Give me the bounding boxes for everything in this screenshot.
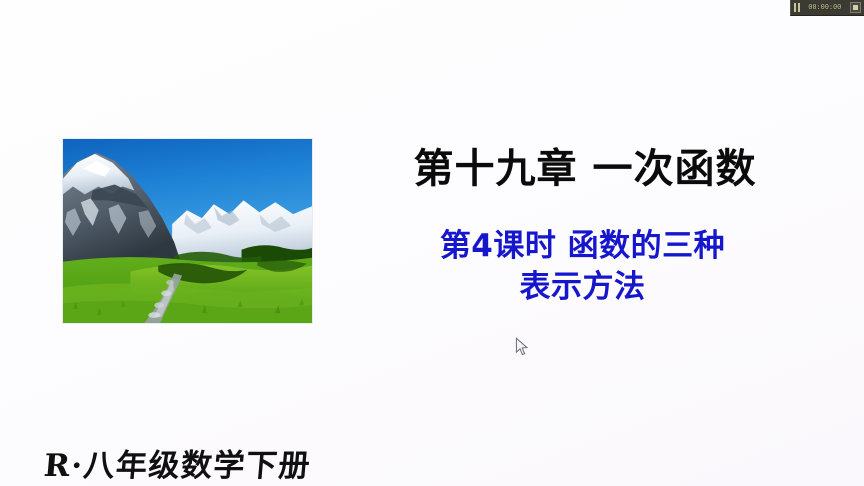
presentation-slide: 00:00:00 (0, 0, 864, 486)
recording-elapsed-time: 00:00:00 (803, 3, 848, 12)
pause-bar-right (798, 3, 800, 12)
stop-recording-icon[interactable] (850, 2, 861, 13)
chapter-title: 第十九章 一次函数 (375, 140, 795, 198)
scenery-illustration (63, 139, 312, 323)
arrow-pointer-icon (515, 337, 529, 357)
lesson-title: 第4课时 函数的三种 表示方法 (365, 226, 800, 308)
pause-bar-left (794, 3, 796, 12)
edition-label: R·八年级数学下册 (42, 446, 313, 486)
stop-square-glyph (853, 5, 858, 10)
screen-recorder-toolbar[interactable]: 00:00:00 (790, 0, 864, 16)
lesson-title-line-2: 表示方法 (365, 267, 800, 308)
mountain-scenery-image (62, 138, 313, 324)
lesson-title-line-1: 第4课时 函数的三种 (440, 228, 725, 264)
pause-icon[interactable] (794, 3, 800, 12)
